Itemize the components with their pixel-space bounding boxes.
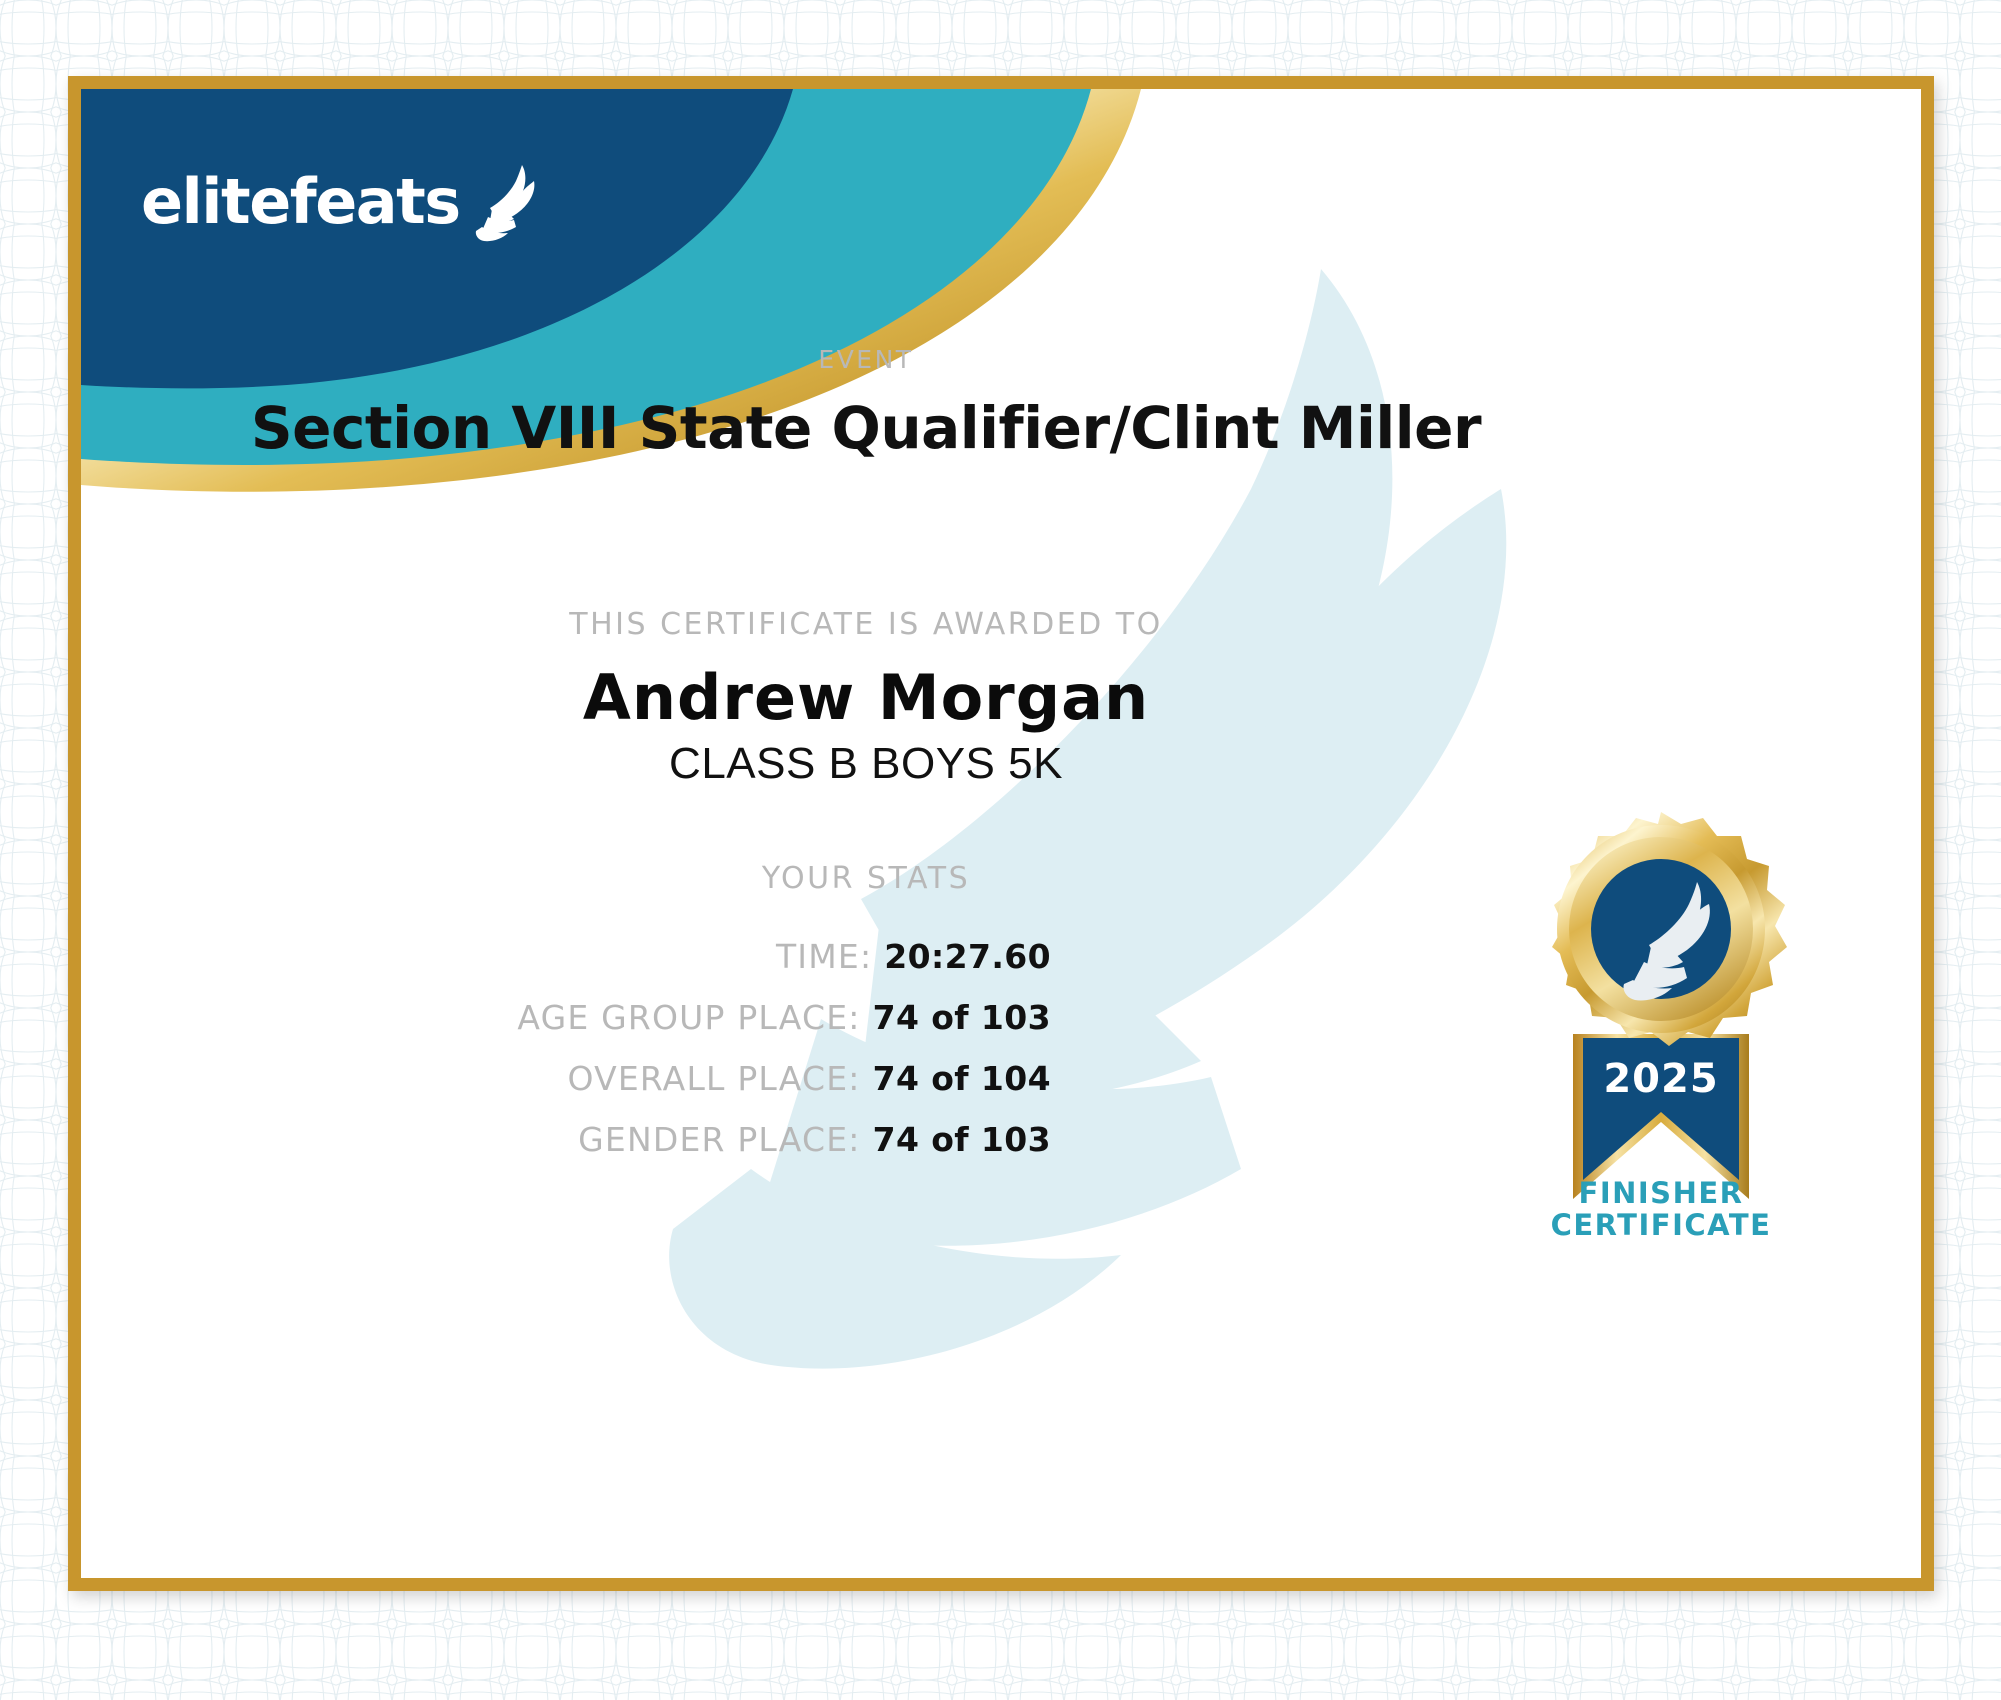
- certificate-content: EVENT Section VIII State Qualifier/Clint…: [81, 89, 1921, 1578]
- stat-key: AGE GROUP PLACE:: [517, 998, 860, 1037]
- winged-foot-icon: [466, 159, 544, 245]
- brand-wordmark: elitefeats: [141, 171, 460, 233]
- stat-value: 74 of 103: [873, 1120, 1051, 1159]
- certificate-page: elitefeats EVEN: [0, 0, 2001, 1700]
- stat-value: 20:27.60: [884, 937, 1051, 976]
- stat-row-age-group-place: AGE GROUP PLACE: 74 of 103: [81, 998, 1651, 1037]
- event-title: Section VIII State Qualifier/Clint Mille…: [81, 394, 1651, 462]
- recipient-division: CLASS B BOYS 5K: [81, 739, 1651, 789]
- stat-value: 74 of 104: [873, 1059, 1051, 1098]
- stat-row-gender-place: GENDER PLACE: 74 of 103: [81, 1120, 1651, 1159]
- stats-heading: YOUR STATS: [81, 861, 1651, 896]
- seal-caption-line1: FINISHER: [1501, 1177, 1821, 1209]
- stat-value: 74 of 103: [873, 998, 1051, 1037]
- medal-year: 2025: [1603, 1056, 1718, 1102]
- awarded-to-label: THIS CERTIFICATE IS AWARDED TO: [81, 607, 1651, 642]
- stats-list: TIME: 20:27.60 AGE GROUP PLACE: 74 of 10…: [81, 937, 1651, 1181]
- certificate-frame: elitefeats EVEN: [68, 76, 1934, 1591]
- medal-starburst: [1552, 812, 1787, 1046]
- stat-key: TIME:: [776, 937, 872, 976]
- stat-row-time: TIME: 20:27.60: [81, 937, 1651, 976]
- stat-key: OVERALL PLACE:: [567, 1059, 860, 1098]
- seal-caption: FINISHER CERTIFICATE: [1501, 1177, 1821, 1242]
- event-label: EVENT: [81, 345, 1651, 374]
- stat-key: GENDER PLACE:: [578, 1120, 860, 1159]
- seal-caption-line2: CERTIFICATE: [1501, 1209, 1821, 1241]
- stat-row-overall-place: OVERALL PLACE: 74 of 104: [81, 1059, 1651, 1098]
- recipient-name: Andrew Morgan: [81, 661, 1651, 734]
- brand-logo: elitefeats: [141, 159, 544, 245]
